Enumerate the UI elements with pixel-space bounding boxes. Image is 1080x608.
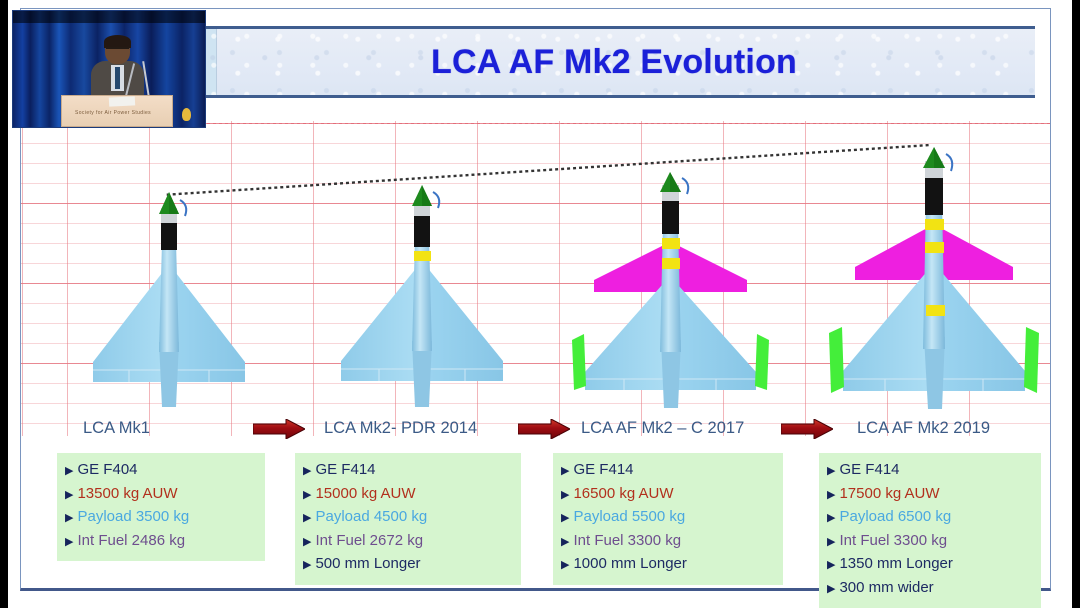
list-item: ▶GE F414 bbox=[827, 459, 1033, 483]
video-top-shadow bbox=[13, 11, 205, 23]
list-item: ▶Int Fuel 2672 kg bbox=[303, 530, 513, 554]
bullet-icon: ▶ bbox=[827, 461, 835, 483]
list-item: ▶Int Fuel 3300 kg bbox=[827, 530, 1033, 554]
spec-list-mk1: ▶GE F404 ▶13500 kg AUW ▶Payload 3500 kg … bbox=[65, 459, 257, 553]
spec-box-mk2-c-2017: ▶GE F414 ▶16500 kg AUW ▶Payload 5500 kg … bbox=[553, 453, 783, 585]
list-item: ▶13500 kg AUW bbox=[65, 483, 257, 507]
list-item: ▶1350 mm Longer bbox=[827, 553, 1033, 577]
slide-title-banner: LCA AF Mk2 Evolution bbox=[193, 26, 1035, 98]
bullet-icon: ▶ bbox=[65, 508, 73, 530]
evolution-arrow-3 bbox=[781, 419, 833, 439]
bullet-icon: ▶ bbox=[303, 461, 311, 483]
spec-list-mk2-2019: ▶GE F414 ▶17500 kg AUW ▶Payload 6500 kg … bbox=[827, 459, 1033, 600]
bullet-icon: ▶ bbox=[65, 485, 73, 507]
bullet-icon: ▶ bbox=[561, 532, 569, 554]
presenter-tie bbox=[115, 67, 120, 89]
list-item: ▶Payload 3500 kg bbox=[65, 506, 257, 530]
lca-af-mk2-c-2017-aircraft bbox=[548, 172, 793, 408]
list-item: ▶17500 kg AUW bbox=[827, 483, 1033, 507]
podium-seal-icon bbox=[182, 108, 191, 121]
list-item: ▶Int Fuel 3300 kg bbox=[561, 530, 775, 554]
list-item: ▶Payload 5500 kg bbox=[561, 506, 775, 530]
stage-label-mk2-2019: LCA AF Mk2 2019 bbox=[857, 413, 990, 443]
spec-list-mk2-pdr-2014: ▶GE F414 ▶15000 kg AUW ▶Payload 4500 kg … bbox=[303, 459, 513, 577]
spec-box-mk2-pdr-2014: ▶GE F414 ▶15000 kg AUW ▶Payload 4500 kg … bbox=[295, 453, 521, 585]
list-item: ▶15000 kg AUW bbox=[303, 483, 513, 507]
list-item: ▶Payload 4500 kg bbox=[303, 506, 513, 530]
evolution-arrow-2 bbox=[518, 419, 570, 439]
bullet-icon: ▶ bbox=[561, 485, 569, 507]
bullet-icon: ▶ bbox=[561, 508, 569, 530]
list-item: ▶1000 mm Longer bbox=[561, 553, 775, 577]
presenter-video[interactable]: Society for Air Power Studies bbox=[12, 10, 206, 128]
list-item: ▶GE F404 bbox=[65, 459, 257, 483]
list-item: ▶500 mm Longer bbox=[303, 553, 513, 577]
list-item: ▶GE F414 bbox=[303, 459, 513, 483]
lca-mk1-aircraft bbox=[69, 192, 269, 407]
speech-notes bbox=[109, 96, 135, 106]
page-title: LCA AF Mk2 Evolution bbox=[431, 43, 797, 82]
stage-label-mk1: LCA Mk1 bbox=[83, 413, 150, 443]
list-item: ▶GE F414 bbox=[561, 459, 775, 483]
bullet-icon: ▶ bbox=[827, 508, 835, 530]
lca-mk2-pdr-2014-aircraft bbox=[317, 185, 527, 407]
stage-label-mk2-pdr-2014: LCA Mk2- PDR 2014 bbox=[324, 413, 477, 443]
bullet-icon: ▶ bbox=[65, 532, 73, 554]
screen: LCA Mk1 LCA Mk2- PDR 2014 LCA AF Mk2 – C… bbox=[0, 0, 1080, 608]
list-item: ▶16500 kg AUW bbox=[561, 483, 775, 507]
bullet-icon: ▶ bbox=[561, 555, 569, 577]
bullet-icon: ▶ bbox=[303, 508, 311, 530]
bullet-icon: ▶ bbox=[827, 579, 835, 601]
bullet-icon: ▶ bbox=[561, 461, 569, 483]
bullet-icon: ▶ bbox=[303, 532, 311, 554]
podium-logo-text: Society for Air Power Studies bbox=[75, 110, 159, 118]
bullet-icon: ▶ bbox=[827, 532, 835, 554]
bullet-icon: ▶ bbox=[303, 485, 311, 507]
spec-box-mk2-2019: ▶GE F414 ▶17500 kg AUW ▶Payload 6500 kg … bbox=[819, 453, 1041, 608]
glasses-icon bbox=[106, 47, 129, 52]
lca-af-mk2-2019-aircraft bbox=[811, 147, 1063, 409]
list-item: ▶Int Fuel 2486 kg bbox=[65, 530, 257, 554]
spec-box-mk1: ▶GE F404 ▶13500 kg AUW ▶Payload 3500 kg … bbox=[57, 453, 265, 561]
bullet-icon: ▶ bbox=[303, 555, 311, 577]
bullet-icon: ▶ bbox=[65, 461, 73, 483]
bullet-icon: ▶ bbox=[827, 555, 835, 577]
evolution-arrow-1 bbox=[253, 419, 305, 439]
stage-label-mk2-c-2017: LCA AF Mk2 – C 2017 bbox=[581, 413, 744, 443]
spec-list-mk2-c-2017: ▶GE F414 ▶16500 kg AUW ▶Payload 5500 kg … bbox=[561, 459, 775, 577]
stage-labels-row: LCA Mk1 LCA Mk2- PDR 2014 LCA AF Mk2 – C… bbox=[21, 413, 1050, 443]
bullet-icon: ▶ bbox=[827, 485, 835, 507]
list-item: ▶Payload 6500 kg bbox=[827, 506, 1033, 530]
list-item: ▶300 mm wider bbox=[827, 577, 1033, 601]
